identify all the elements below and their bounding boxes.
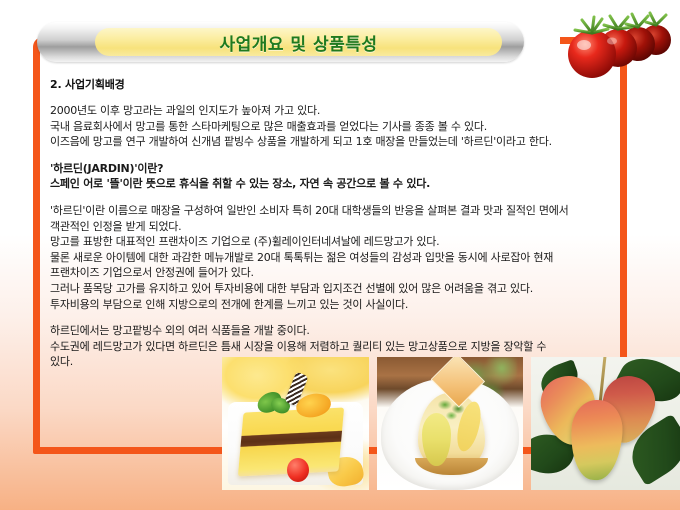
fresh-mangoes-on-branch-photo [531,357,680,490]
text-line: 이즈음에 망고를 연구 개발하여 신개념 팥빙수 상품을 개발하게 되고 1호 … [50,134,630,150]
page-title: 사업개요 및 상품특성 [219,30,377,55]
paragraph-jardin-definition: '하르딘(JARDIN)'이란? 스페인 어로 '뜰'이란 뜻으로 휴식을 취할… [50,161,630,192]
text-line: 객관적인 인정을 받게 되었다. [50,219,630,235]
text-line: 하르딘에서는 망고팥빙수 외의 여러 식품들을 개발 중이다. [50,323,630,339]
section-heading: 2. 사업기획배경 [50,76,630,92]
text-line: '하르딘(JARDIN)'이란? [50,161,630,177]
slide-title-inner-capsule: 사업개요 및 상품특성 [95,28,502,56]
text-line: 그러나 품목당 고가를 유지하고 있어 투자비용에 대한 부담과 입지조건 선별… [50,281,630,297]
paragraph-market-analysis: '하르딘'이란 이름으로 매장을 구성하여 일반인 소비자 특히 20대 대학생… [50,203,630,312]
text-line: 프랜차이즈 기업으로서 안정권에 들어가 있다. [50,265,630,281]
text-line: 물론 새로운 아이템에 대한 과감한 메뉴개발로 20대 톡톡튀는 젊은 여성들… [50,250,630,266]
mango-cake-slice-photo [222,357,369,490]
text-line: 국내 음료회사에서 망고를 통한 스타마케팅으로 많은 매출효과를 얻었다는 기… [50,119,630,135]
text-line: 2000년도 이후 망고라는 과일의 인지도가 높아져 가고 있다. [50,103,630,119]
slide-body: 2. 사업기획배경 2000년도 이후 망고라는 과일의 인지도가 높아져 가고… [50,76,630,381]
paragraph-background: 2000년도 이후 망고라는 과일의 인지도가 높아져 가고 있다. 국내 음료… [50,103,630,150]
mango-mousse-dessert-photo [377,357,523,490]
text-line: 투자비용의 부담으로 인해 지방으로의 전개에 한계를 느끼고 있는 것이 사실… [50,297,630,313]
slide-title-bar: 사업개요 및 상품특성 [37,22,524,62]
text-line: '하르딘'이란 이름으로 매장을 구성하여 일반인 소비자 특히 20대 대학생… [50,203,630,219]
text-line: 스페인 어로 '뜰'이란 뜻으로 휴식을 취할 수 있는 장소, 자연 속 공간… [50,176,630,192]
photo-strip [222,357,680,490]
presentation-slide: 사업개요 및 상품특성 [0,0,680,510]
text-line: 망고를 표방한 대표적인 프랜차이즈 기업으로 (주)휠레이인터네셔날에 레드망… [50,234,630,250]
text-line: 수도권에 레드망고가 있다면 하르딘은 틈새 시장을 이용해 저렴하고 퀄리티 … [50,339,630,355]
